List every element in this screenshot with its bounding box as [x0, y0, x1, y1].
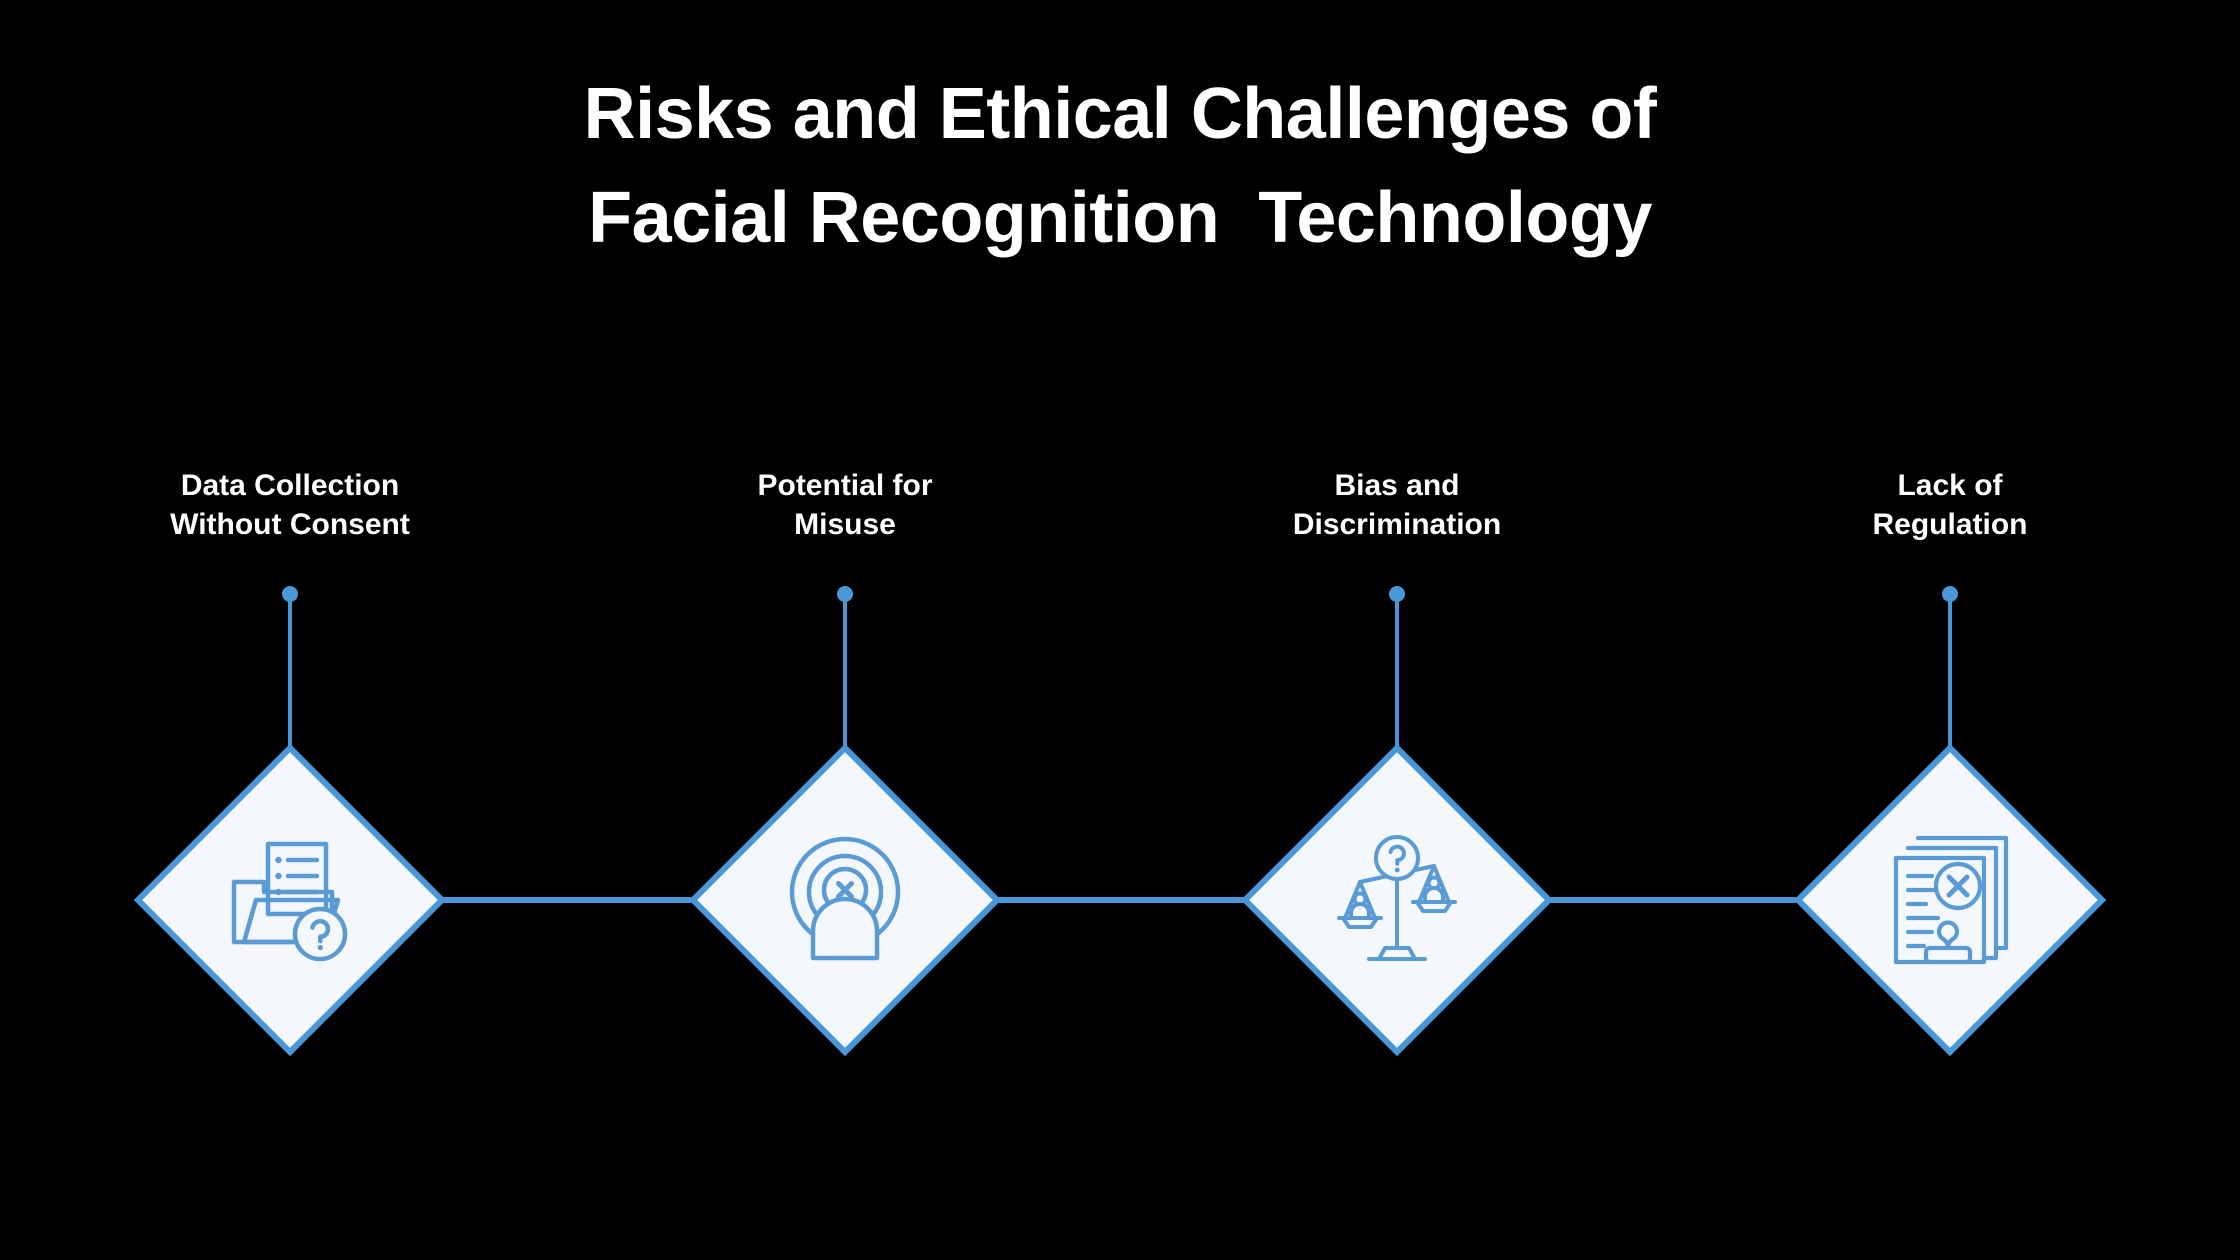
timeline-node-3-label: Bias and Discrimination [1147, 466, 1647, 544]
timeline-node-3-stem [1395, 598, 1399, 754]
connector-link-1-2 [443, 897, 691, 903]
scales-question-icon [1327, 830, 1467, 970]
documents-x-stamp-icon [1880, 830, 2020, 970]
person-scan-x-icon [775, 830, 915, 970]
connector-link-3-4 [1550, 897, 1796, 903]
timeline-node-2-stem [843, 598, 847, 754]
connector-link-2-3 [998, 897, 1253, 903]
timeline-diagram: Data Collection Without Consent [0, 0, 2240, 1260]
timeline-node-1-stem [288, 598, 292, 754]
timeline-node-2-label: Potential for Misuse [595, 466, 1095, 544]
timeline-node-1-label: Data Collection Without Consent [40, 466, 540, 544]
timeline-node-4-stem [1948, 598, 1952, 754]
slide-canvas: Risks and Ethical Challenges of Facial R… [0, 0, 2240, 1260]
folder-document-question-icon [220, 830, 360, 970]
timeline-node-4-label: Lack of Regulation [1700, 466, 2200, 544]
